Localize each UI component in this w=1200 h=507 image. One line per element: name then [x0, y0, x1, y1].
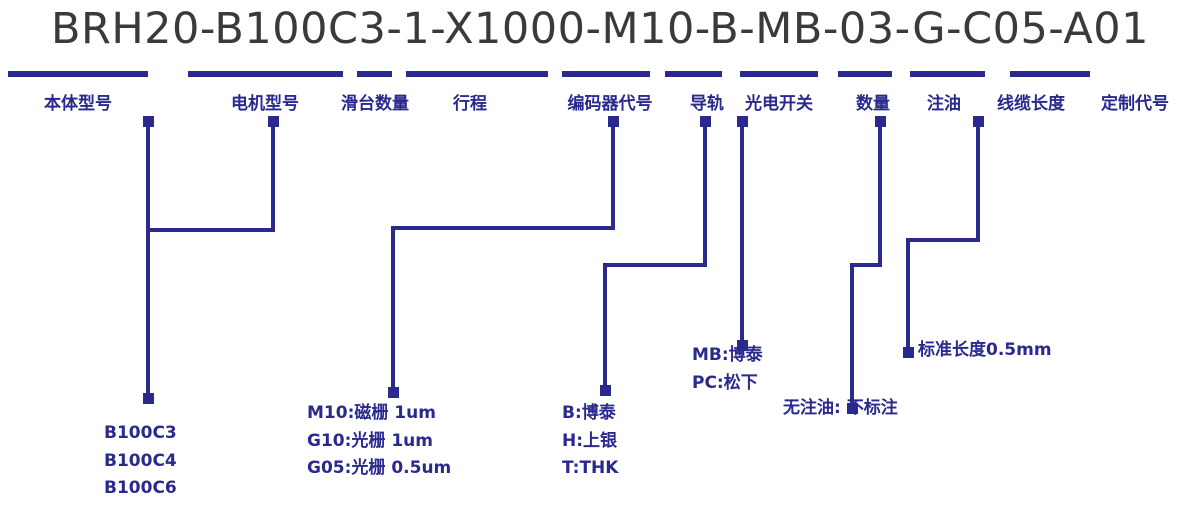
legend-line: B:博泰 [562, 400, 618, 428]
marker-cable-length-top [973, 116, 984, 127]
part-number-breakdown-diagram: BRH20-B100C3-1-X1000-M10-B-MB-03-G-C05-A… [0, 0, 1200, 507]
legend-line: MB:博泰 [692, 342, 763, 370]
marker-quantity-top [875, 116, 886, 127]
field-label-guide-rail: 导轨 [690, 96, 724, 113]
legend-line: B100C4 [104, 448, 177, 476]
field-label-body-model: 本体型号 [44, 96, 112, 113]
marker-motor-model-top [268, 116, 279, 127]
leader-quantity [852, 122, 880, 408]
field-label-cable-length: 线缆长度 [997, 96, 1065, 113]
marker-guide-rail-end [600, 385, 611, 396]
marker-photo-switch-top [737, 116, 748, 127]
legend-line: B100C3 [104, 420, 177, 448]
marker-body-model-end [143, 393, 154, 404]
leader-cable-length [908, 122, 978, 352]
legend-lubrication-options: 无注油: 不标注 [783, 395, 898, 423]
legend-line: G05:光栅 0.5um [307, 455, 451, 483]
legend-line: 标准长度0.5mm [918, 337, 1052, 365]
field-label-encoder-code: 编码器代号 [568, 96, 653, 113]
leader-polylines [148, 122, 978, 408]
leader-guide-rail [605, 122, 705, 390]
leader-encoder-code [393, 122, 613, 392]
marker-cable-length-end [903, 347, 914, 358]
legend-line: 无注油: 不标注 [783, 395, 898, 423]
legend-line: G10:光栅 1um [307, 428, 451, 456]
legend-guide-rail-options: B:博泰 H:上银 T:THK [562, 400, 618, 483]
field-label-slider-count: 滑台数量 [341, 96, 409, 113]
leader-motor-model [148, 122, 273, 230]
legend-photo-switch-options: MB:博泰 PC:松下 [692, 342, 763, 397]
legend-cable-length-options: 标准长度0.5mm [918, 337, 1052, 365]
legend-line: PC:松下 [692, 370, 763, 398]
field-label-stroke: 行程 [453, 96, 487, 113]
legend-line: H:上银 [562, 428, 618, 456]
field-label-photo-switch: 光电开关 [745, 96, 813, 113]
marker-guide-rail-top [700, 116, 711, 127]
legend-line: B100C6 [104, 475, 177, 503]
marker-encoder-code-end [388, 387, 399, 398]
legend-line: M10:磁栅 1um [307, 400, 451, 428]
legend-line: T:THK [562, 455, 618, 483]
marker-body-model-top [143, 116, 154, 127]
field-label-custom-code: 定制代号 [1101, 96, 1169, 113]
legend-body-model-options: B100C3 B100C4 B100C6 [104, 420, 177, 503]
legend-encoder-code-options: M10:磁栅 1um G10:光栅 1um G05:光栅 0.5um [307, 400, 451, 483]
field-label-lubrication: 注油 [927, 96, 961, 113]
marker-encoder-code-top [608, 116, 619, 127]
field-label-quantity: 数量 [856, 96, 890, 113]
field-label-motor-model: 电机型号 [231, 96, 299, 113]
